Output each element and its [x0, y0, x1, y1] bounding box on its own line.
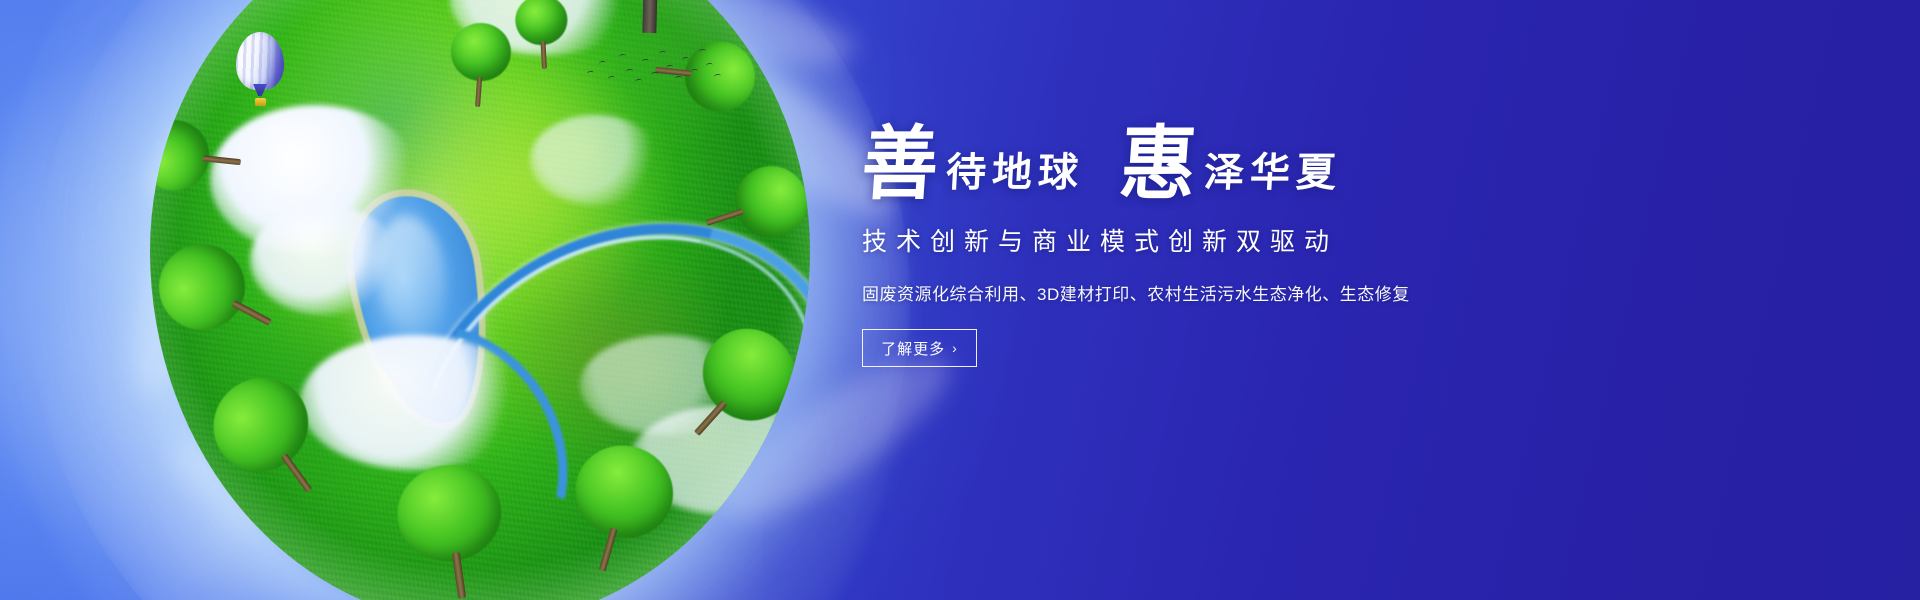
balloon-stripes — [236, 32, 284, 90]
headline-rest-chars-1: 待地球 — [945, 153, 1085, 193]
balloon-basket — [255, 98, 266, 106]
banner-subtitle: 技术创新与商业模式创新双驱动 — [862, 222, 1562, 258]
headline-lead-char-2: 惠 — [1117, 126, 1198, 203]
tree — [391, 458, 513, 600]
chevron-right-icon: › — [952, 340, 958, 356]
banner-content: 善 待地球 惠 泽华夏 技术创新与商业模式创新双驱动 固废资源化综合利用、3D建… — [862, 128, 1562, 367]
headline: 善 待地球 惠 泽华夏 — [862, 128, 1562, 200]
tree — [447, 21, 513, 109]
headline-phrase-1: 善 待地球 — [862, 128, 1084, 200]
surface-cloud — [530, 115, 660, 205]
headline-phrase-2: 惠 泽华夏 — [1120, 128, 1342, 200]
headline-rest-chars-2: 泽华夏 — [1203, 153, 1343, 193]
tree — [150, 117, 246, 197]
headline-lead-char-1: 善 — [859, 126, 940, 203]
bird-flock — [585, 45, 725, 95]
hero-banner: 善 待地球 惠 泽华夏 技术创新与商业模式创新双驱动 固废资源化综合利用、3D建… — [0, 0, 1920, 600]
banner-description: 固废资源化综合利用、3D建材打印、农村生活污水生态净化、生态修复 — [862, 280, 1562, 305]
learn-more-button[interactable]: 了解更多 › — [862, 329, 977, 367]
learn-more-label: 了解更多 — [881, 338, 945, 359]
foreground-tree — [540, 0, 770, 25]
hot-air-balloon — [236, 32, 284, 110]
